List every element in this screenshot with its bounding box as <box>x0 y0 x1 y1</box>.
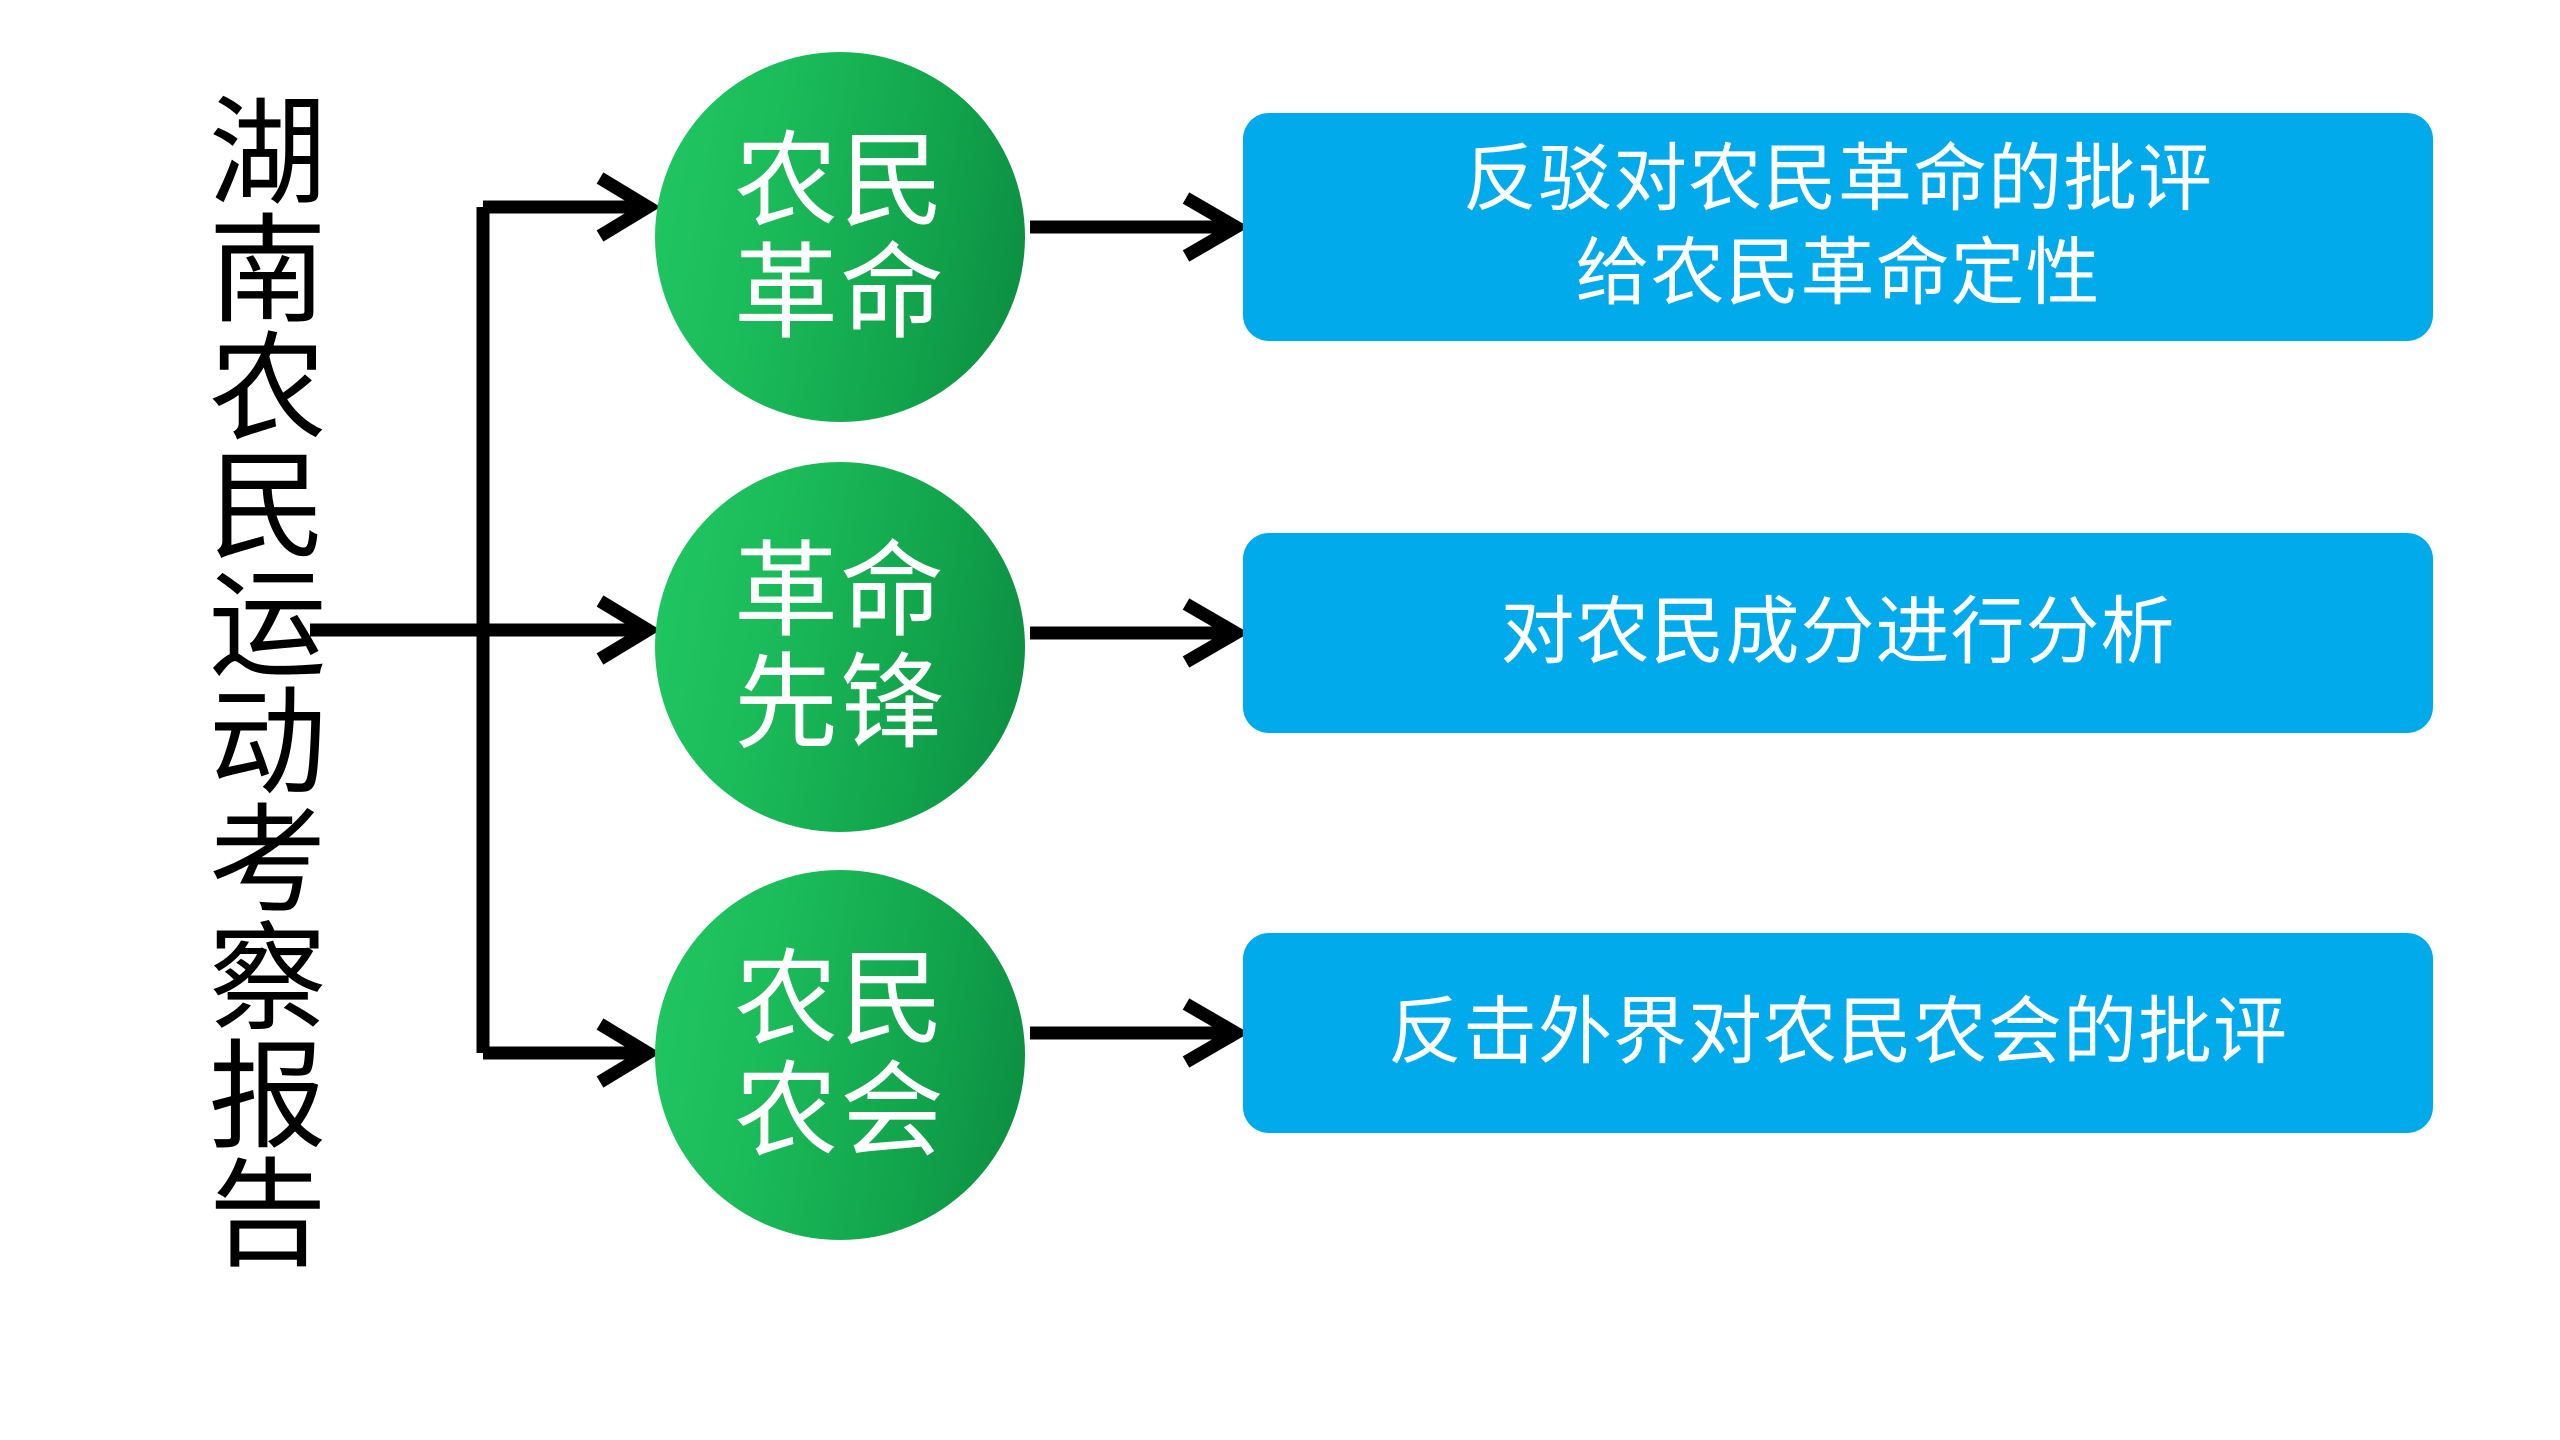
node-circle-2-line1: 革命 <box>734 535 946 647</box>
detail-box-2[interactable]: 对农民成分进行分析 <box>1243 533 2433 733</box>
detail-box-1[interactable]: 反驳对农民革命的批评 给农民革命定性 <box>1243 113 2433 341</box>
root-title-text: 湖南农民运动考察报告 <box>197 90 317 1270</box>
arrowhead-branch-3 <box>600 1024 648 1082</box>
detail-box-3[interactable]: 反击外界对农民农会的批评 <box>1243 933 2433 1133</box>
detail-box-1-line1: 反驳对农民革命的批评 <box>1463 133 2213 227</box>
node-circle-1[interactable]: 农民 革命 <box>655 52 1025 422</box>
detail-box-1-line2: 给农民革命定性 <box>1576 227 2101 321</box>
diagram-canvas: 湖南农民运动考察报告 <box>0 0 2560 1440</box>
detail-box-2-line1: 对农民成分进行分析 <box>1501 586 2176 680</box>
node-circle-1-line2: 革命 <box>734 237 946 349</box>
arrowhead-branch-1 <box>600 178 648 236</box>
arrowhead-box-3 <box>1186 1004 1236 1062</box>
node-circle-3-line1: 农民 <box>734 943 946 1055</box>
node-circle-1-line1: 农民 <box>734 125 946 237</box>
root-title: 湖南农民运动考察报告 <box>152 90 362 1180</box>
arrowhead-branch-2 <box>600 601 648 659</box>
arrowhead-box-2 <box>1186 604 1236 662</box>
detail-box-3-line1: 反击外界对农民农会的批评 <box>1388 986 2288 1080</box>
node-circle-3-line2: 农会 <box>734 1055 946 1167</box>
arrowhead-box-1 <box>1186 198 1236 256</box>
node-circle-3[interactable]: 农民 农会 <box>655 870 1025 1240</box>
node-circle-2[interactable]: 革命 先锋 <box>655 462 1025 832</box>
node-circle-2-line2: 先锋 <box>734 647 946 759</box>
